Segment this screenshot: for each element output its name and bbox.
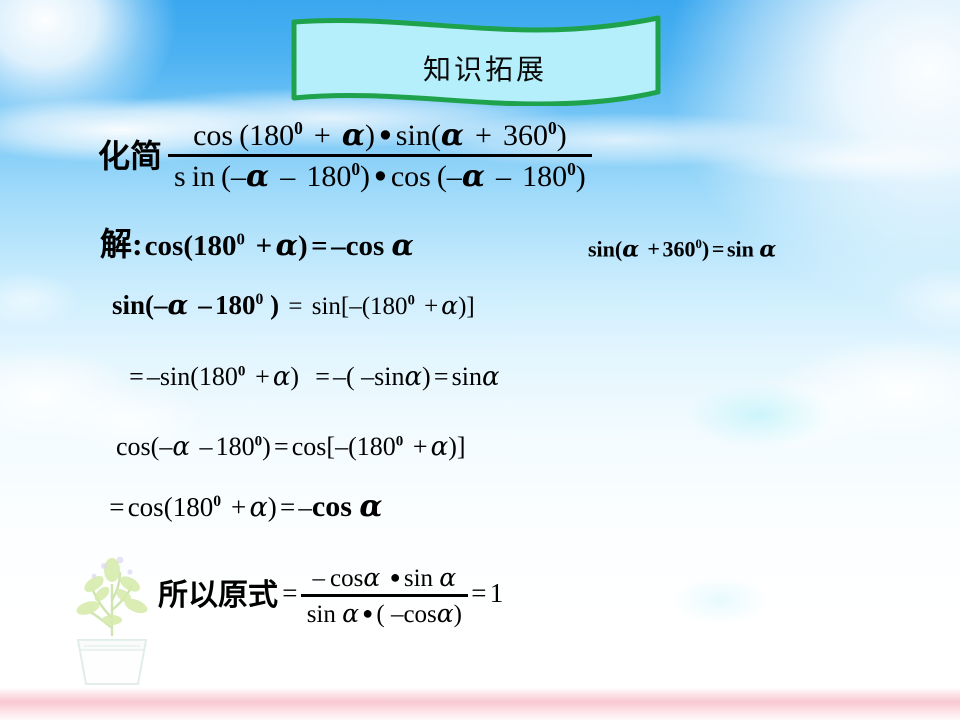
main-fraction-denominator: s in (–α – 1800)●cos (–α – 1800) bbox=[168, 157, 592, 192]
potted-plant-graphic bbox=[58, 540, 166, 690]
step-cos-result: =cos(1800 +α)=–cos α bbox=[106, 492, 383, 522]
step-sin-expand: sin(–α –1800 ) = sin[–(1800 +α)] bbox=[112, 292, 475, 319]
main-fraction: cos (1800 + α)●sin(α + 3600) s in (–α – … bbox=[168, 120, 592, 192]
simplify-label: 化简 bbox=[98, 137, 168, 175]
step-cos-identity: 解:cos(1800 +α)=–cos α bbox=[100, 228, 414, 261]
banner-title-text: 知识拓展 bbox=[288, 48, 664, 88]
step-sin-result: =–sin(1800 +α) =–( –sinα)=sinα bbox=[126, 364, 500, 390]
step-sin-360-identity: sin(α +3600)=sin α bbox=[588, 238, 776, 260]
simplify-expression: 化简 cos (1800 + α)●sin(α + 3600) s in (–α… bbox=[98, 120, 592, 192]
final-fraction-numerator: – cosα ●sin α bbox=[301, 565, 468, 594]
potted-plant-icon bbox=[58, 540, 166, 690]
slide-canvas: 知识拓展 化简 cos (1800 + α)●sin(α + 3600) s i… bbox=[0, 0, 960, 720]
background-pink-band bbox=[0, 688, 960, 720]
step-cos-expand: cos(–α –1800)=cos[–(1800 +α)] bbox=[116, 434, 466, 460]
solution-label: 解: bbox=[100, 225, 145, 263]
title-banner: 知识拓展 bbox=[288, 14, 664, 106]
final-fraction-denominator: sin α●( –cosα) bbox=[301, 597, 468, 627]
main-fraction-numerator: cos (1800 + α)●sin(α + 3600) bbox=[168, 120, 592, 154]
final-result-expression: 所以原式= – cosα ●sin α sin α●( –cosα) =1 bbox=[158, 565, 503, 627]
final-label: 所以原式 bbox=[158, 578, 279, 613]
final-fraction: – cosα ●sin α sin α●( –cosα) bbox=[301, 565, 468, 627]
